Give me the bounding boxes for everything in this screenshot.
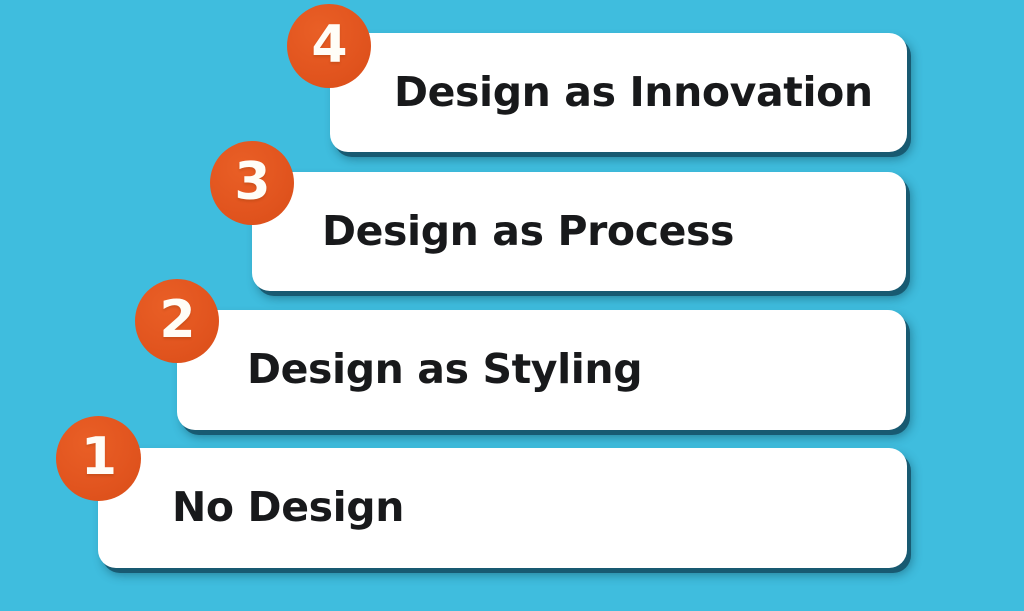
step-number-badge-4[interactable]: 4 [287, 4, 371, 88]
ladder-step-3[interactable]: Design as Process 3 [252, 172, 906, 291]
ladder-step-4[interactable]: Design as Innovation 4 [330, 33, 907, 152]
step-number-text-1: 1 [81, 431, 116, 483]
step-number-text-2: 2 [159, 294, 194, 346]
step-number-badge-3[interactable]: 3 [210, 141, 294, 225]
step-number-text-3: 3 [234, 156, 269, 208]
step-label-2: Design as Styling [247, 345, 642, 393]
step-number-text-4: 4 [311, 19, 346, 71]
step-number-badge-1[interactable]: 1 [56, 416, 141, 501]
ladder-step-1[interactable]: No Design 1 [98, 448, 907, 568]
ladder-step-2[interactable]: Design as Styling 2 [177, 310, 906, 430]
design-maturity-ladder: Design as Innovation 4 Design as Process… [0, 0, 1024, 611]
step-number-badge-2[interactable]: 2 [135, 279, 219, 363]
step-label-1: No Design [172, 483, 404, 531]
step-label-4: Design as Innovation [394, 68, 873, 116]
step-label-3: Design as Process [322, 207, 734, 255]
